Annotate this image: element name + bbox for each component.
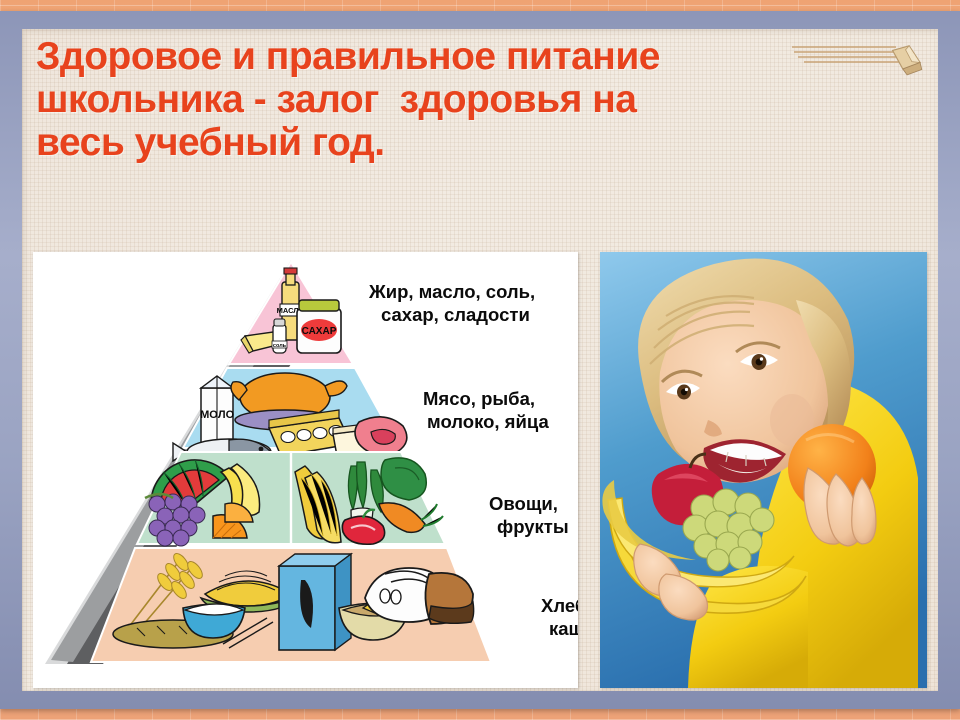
- slide-canvas: Здоровое и правильное питание школьника …: [22, 29, 938, 691]
- pyramid-tier-produce: [137, 452, 445, 546]
- milk-carton-label-left: МО: [200, 409, 218, 421]
- slide: Здоровое и правильное питание школьника …: [0, 0, 960, 720]
- tier-label-protein-line2: молоко, яйца: [427, 411, 549, 432]
- cereal-box-icon: [279, 554, 351, 650]
- tier-label-grains-line2: каши: [549, 618, 578, 639]
- salt-shaker-icon: соль: [272, 319, 287, 353]
- tier-label-protein-line1: Мясо, рыба,: [423, 388, 535, 409]
- tier-label-fats-line1: Жир, масло, соль,: [368, 281, 535, 302]
- salt-shaker-label: соль: [273, 343, 287, 349]
- food-pyramid-graphic: МАСЛО САХАР: [33, 252, 578, 688]
- milk-carton-icon: МО ЛО: [200, 376, 234, 444]
- tier-label-grains-line1: Хлеб,: [541, 595, 578, 616]
- girl-with-fruit-photo: [600, 252, 927, 688]
- title-line-2: школьника - залог здоровья на: [36, 79, 922, 122]
- girl-with-fruit-graphic: [600, 252, 927, 688]
- sugar-jar-icon: САХАР: [297, 300, 341, 353]
- tier-label-fats-line2: сахар, сладости: [381, 304, 530, 325]
- food-pyramid-image: МАСЛО САХАР: [33, 252, 578, 688]
- tier-label-produce-line1: Овощи,: [489, 493, 558, 514]
- page-title: Здоровое и правильное питание школьника …: [36, 36, 922, 165]
- tier-label-produce-line2: фрукты: [497, 516, 569, 537]
- title-line-3: весь учебный год.: [36, 122, 922, 165]
- title-line-1: Здоровое и правильное питание: [36, 36, 922, 79]
- milk-carton-label-right: ЛО: [218, 409, 235, 421]
- pyramid-tier-grains: [91, 548, 491, 662]
- sugar-jar-label: САХАР: [302, 326, 337, 337]
